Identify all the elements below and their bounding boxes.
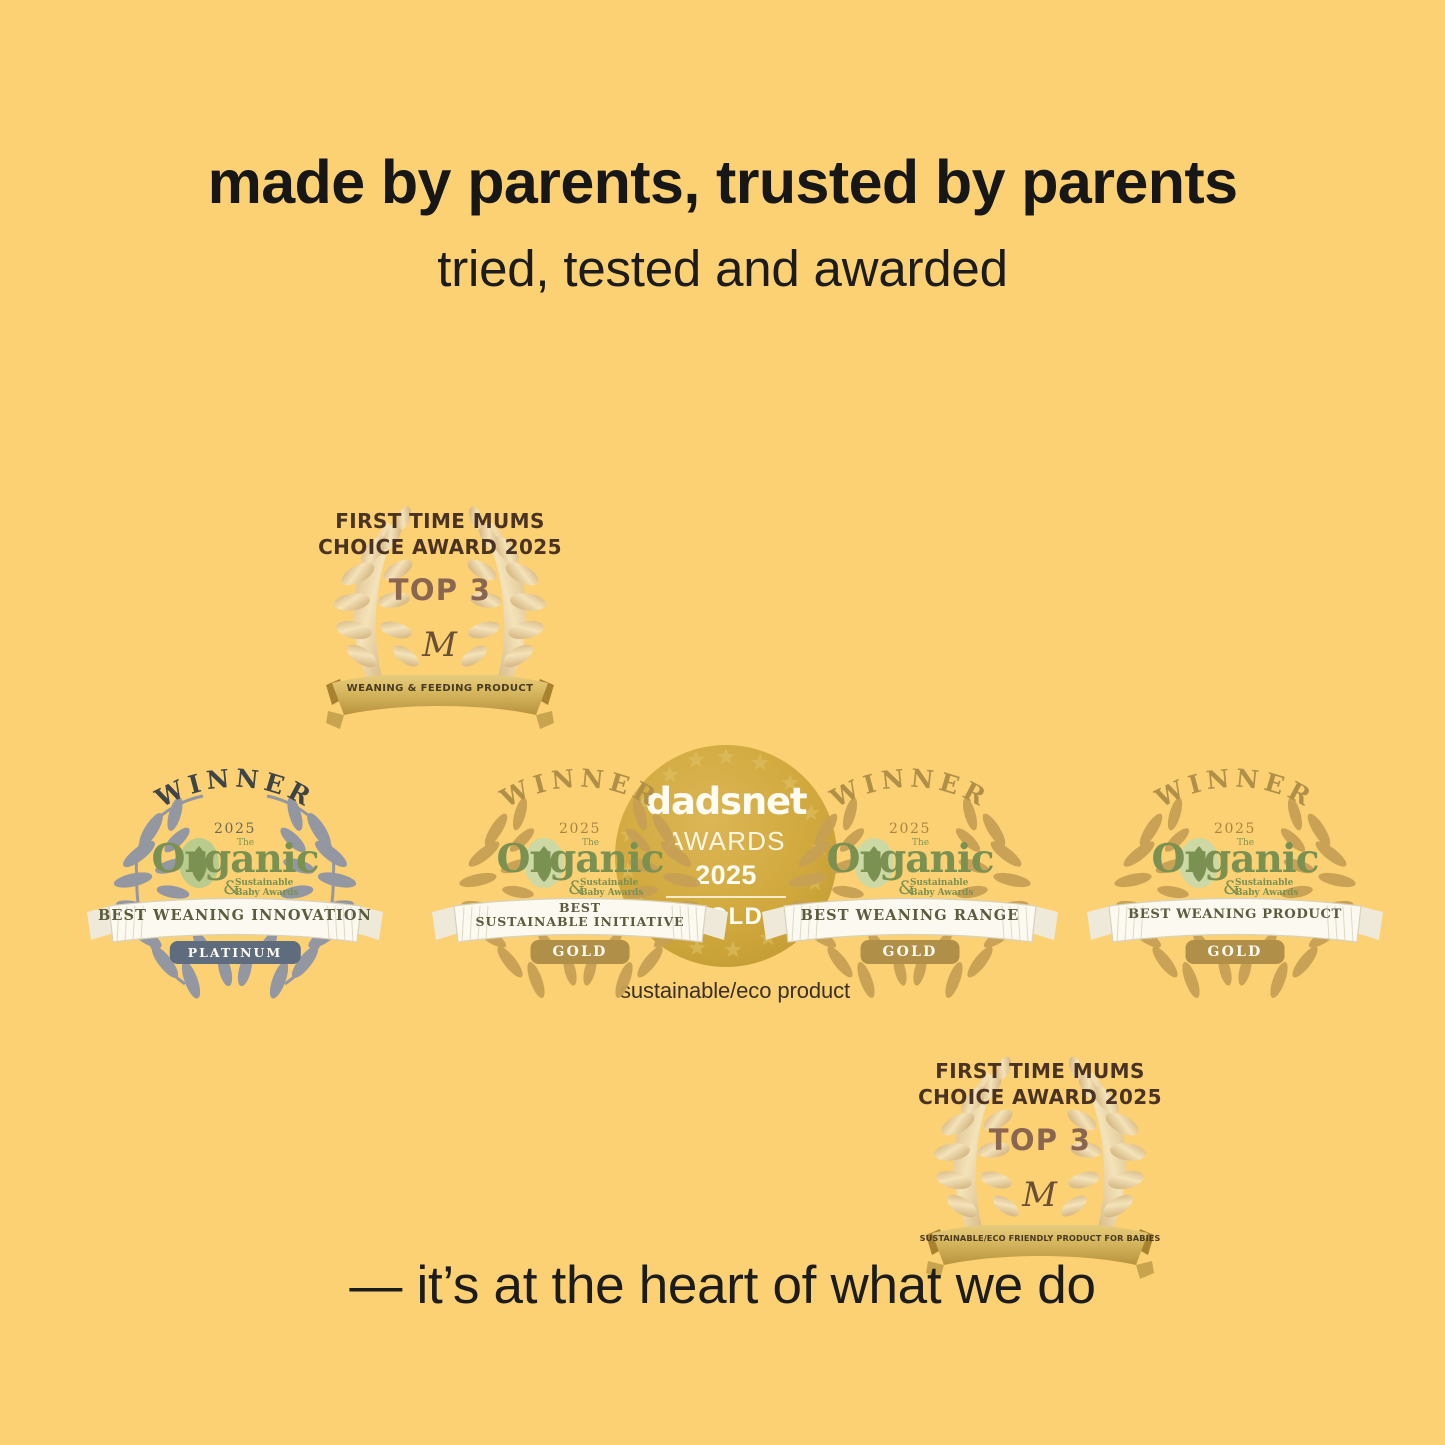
organic-subtitle: Sustainable Baby Awards	[910, 878, 973, 899]
footer-tagline: — it’s at the heart of what we do	[0, 1255, 1445, 1316]
organic-subtitle-line1: Sustainable	[235, 878, 298, 888]
top-awards-row: FIRST TIME MUMS CHOICE AWARD 2025 TOP 3 …	[0, 470, 1445, 750]
badge-line-2: CHOICE AWARD 2025	[300, 534, 580, 560]
monogram-icon: M	[300, 625, 580, 665]
badge-line-1: FIRST TIME MUMS	[900, 1058, 1180, 1084]
organic-subtitle-line1: Sustainable	[910, 878, 973, 888]
badge-organic-weaning-range: WINNER 2025 The Organic & Sustainable Ba…	[760, 780, 1060, 1005]
ribbon-label: WEANING & FEEDING PRODUCT	[300, 683, 580, 694]
badge-text-block: FIRST TIME MUMS CHOICE AWARD 2025 TOP 3	[300, 508, 580, 607]
award-tier-badge: PLATINUM	[170, 941, 301, 964]
heading-block: made by parents, trusted by parents trie…	[0, 150, 1445, 297]
award-tier-badge: GOLD	[531, 940, 630, 964]
award-year: 2025	[85, 821, 385, 837]
ribbon-label: SUSTAINABLE/ECO FRIENDLY PRODUCT FOR BAB…	[900, 1233, 1180, 1243]
organic-subtitle-line1: Sustainable	[1235, 878, 1298, 888]
organic-subtitle: Sustainable Baby Awards	[580, 878, 643, 899]
award-tier-badge: GOLD	[861, 940, 960, 964]
badge-organic-sustainable-initiative: WINNER 2025 The Organic & Sustainable Ba…	[430, 780, 730, 1005]
award-category: BEST WEANING RANGE	[760, 908, 1060, 924]
award-category: BEST WEANING INNOVATION	[85, 908, 385, 924]
badge-rank: TOP 3	[900, 1123, 1180, 1157]
organic-brand: Organic	[1085, 840, 1385, 879]
badge-text-block: FIRST TIME MUMS CHOICE AWARD 2025 TOP 3	[900, 1058, 1180, 1157]
organic-subtitle: Sustainable Baby Awards	[235, 878, 298, 899]
award-year: 2025	[760, 821, 1060, 837]
organic-brand: Organic	[760, 840, 1060, 879]
badge-first-time-mums-eco: FIRST TIME MUMS CHOICE AWARD 2025 TOP 3 …	[900, 1020, 1180, 1290]
award-year: 2025	[430, 821, 730, 837]
award-tier-badge: GOLD	[1186, 940, 1285, 964]
organic-brand: Organic	[85, 840, 385, 879]
page-title: made by parents, trusted by parents	[0, 150, 1445, 215]
awards-promo-panel: made by parents, trusted by parents trie…	[0, 0, 1445, 1445]
award-category: BEST WEANING PRODUCT	[1085, 908, 1385, 923]
badge-rank: TOP 3	[300, 573, 580, 607]
monogram-icon: M	[900, 1175, 1180, 1215]
organic-brand: Organic	[430, 840, 730, 879]
organic-subtitle-line1: Sustainable	[580, 878, 643, 888]
award-year: 2025	[1085, 821, 1385, 837]
badge-line-2: CHOICE AWARD 2025	[900, 1084, 1180, 1110]
page-subtitle: tried, tested and awarded	[0, 241, 1445, 297]
badge-organic-weaning-innovation: WINNER 2025 The Organic & Sustainable Ba…	[85, 780, 385, 1005]
organic-awards-row: WINNER 2025 The Organic & Sustainable Ba…	[0, 780, 1445, 1005]
award-category: BEST SUSTAINABLE INITIATIVE	[430, 901, 730, 929]
badge-first-time-mums-weaning: FIRST TIME MUMS CHOICE AWARD 2025 TOP 3 …	[300, 470, 580, 740]
badge-line-1: FIRST TIME MUMS	[300, 508, 580, 534]
organic-subtitle: Sustainable Baby Awards	[1235, 878, 1298, 899]
badge-organic-weaning-product: WINNER 2025 The Organic & Sustainable Ba…	[1085, 780, 1385, 1005]
